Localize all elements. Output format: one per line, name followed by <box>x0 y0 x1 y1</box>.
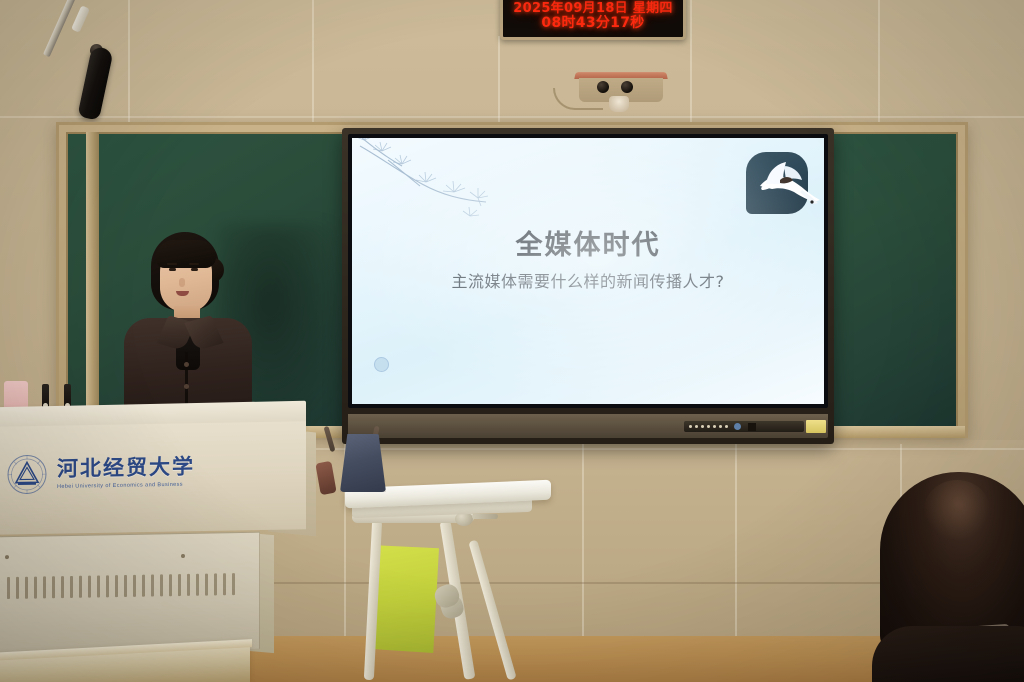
wall-seam <box>312 0 314 124</box>
vent-slot <box>124 575 127 597</box>
presenter-eyebrow <box>167 263 177 265</box>
vent-slot <box>133 575 136 597</box>
control-dot <box>713 425 716 428</box>
slide-watermark <box>374 357 389 372</box>
presenter-nose <box>179 278 185 287</box>
boom-clip <box>71 5 90 32</box>
wall-seam <box>690 0 692 126</box>
control-port <box>748 423 756 431</box>
vent-slot <box>34 577 37 599</box>
wall-seam <box>878 0 880 124</box>
projection-screen[interactable]: 全媒体时代 主流媒体需要什么样的新闻传播人才? <box>342 128 834 444</box>
warning-label <box>806 420 826 433</box>
vent-slot <box>43 576 46 598</box>
crane-icon <box>740 156 820 212</box>
vent-slot <box>214 573 217 595</box>
presenter-eyebrow <box>189 263 199 265</box>
vent-slot <box>232 573 235 595</box>
wall-camera-sensor-unit <box>575 72 667 108</box>
slide-subtitle: 主流媒体需要什么样的新闻传播人才? <box>352 268 824 292</box>
screen-bezel: 全媒体时代 主流媒体需要什么样的新闻传播人才? <box>348 134 828 408</box>
microphone-icon <box>77 46 113 121</box>
university-name-en: Hebei University of Economics and Busine… <box>57 482 195 490</box>
control-dot <box>689 425 692 428</box>
navy-handbag <box>340 434 386 492</box>
vent-slot <box>151 575 154 597</box>
control-dot <box>725 425 728 428</box>
control-dot <box>695 425 698 428</box>
ventilation-grille <box>7 573 239 599</box>
seated-student-back-of-head <box>872 472 1024 682</box>
vent-slot <box>7 577 10 599</box>
vent-slot <box>196 574 199 596</box>
shirt-button <box>184 384 189 389</box>
vent-slot <box>97 575 100 597</box>
table-crank-handle[interactable] <box>472 514 498 519</box>
shirt-button <box>184 362 189 367</box>
presenter-eye <box>169 268 176 271</box>
vent-slot <box>79 576 82 598</box>
vent-slot <box>223 573 226 595</box>
vent-slot <box>205 574 208 596</box>
screen-control-strip[interactable] <box>684 421 804 432</box>
flying-crane-logo <box>746 152 808 214</box>
vent-slot <box>160 574 163 596</box>
podium-cabinet <box>0 532 260 655</box>
slide-title: 全媒体时代 <box>352 223 824 262</box>
camera-lens-icon <box>597 81 609 93</box>
university-name-cn: 河北经贸大学 <box>57 456 195 479</box>
vent-slot <box>70 576 73 598</box>
control-dot <box>719 425 722 428</box>
control-dot <box>707 425 710 428</box>
vent-slot <box>106 575 109 597</box>
vent-slot <box>16 577 19 599</box>
university-branding: 河北经贸大学 Hebei University of Economics and… <box>6 440 216 506</box>
cabinet-screw <box>181 554 185 558</box>
wall-seam <box>0 116 1024 118</box>
led-date-line: 2025年09月18日 星期四 <box>513 1 672 16</box>
led-time-line: 08时43分17秒 <box>541 16 644 31</box>
cabinet-screw <box>5 555 9 559</box>
wall-seam <box>128 0 130 124</box>
vent-slot <box>115 575 118 597</box>
vent-slot <box>61 576 64 598</box>
vent-slot <box>52 576 55 598</box>
power-button[interactable] <box>734 423 741 430</box>
vent-slot <box>178 574 181 596</box>
student-hair-sheen <box>924 480 990 540</box>
wall-seam <box>498 36 500 126</box>
sensor-knob <box>609 96 629 112</box>
vent-slot <box>169 574 172 596</box>
vent-slot <box>25 577 28 599</box>
control-dot <box>701 425 704 428</box>
presenter-eye <box>191 268 198 271</box>
chalkboard-slide-rail <box>86 132 99 428</box>
classroom-scene: 2025年09月18日 星期四 08时43分17秒 <box>0 0 1024 682</box>
university-crest-icon <box>6 453 48 496</box>
vent-slot <box>187 574 190 596</box>
vent-slot <box>88 576 91 598</box>
vent-slot <box>142 575 145 597</box>
shotgun-microphone-boom <box>52 0 122 120</box>
presentation-slide: 全媒体时代 主流媒体需要什么样的新闻传播人才? <box>352 138 824 404</box>
student-shoulder <box>872 626 1024 682</box>
presenter-fringe <box>156 240 216 268</box>
camera-lens-icon <box>621 81 633 93</box>
led-date-time-display: 2025年09月18日 星期四 08时43分17秒 <box>500 0 686 40</box>
speaker-at-podium <box>118 232 258 417</box>
screen-lower-bar <box>348 414 828 438</box>
